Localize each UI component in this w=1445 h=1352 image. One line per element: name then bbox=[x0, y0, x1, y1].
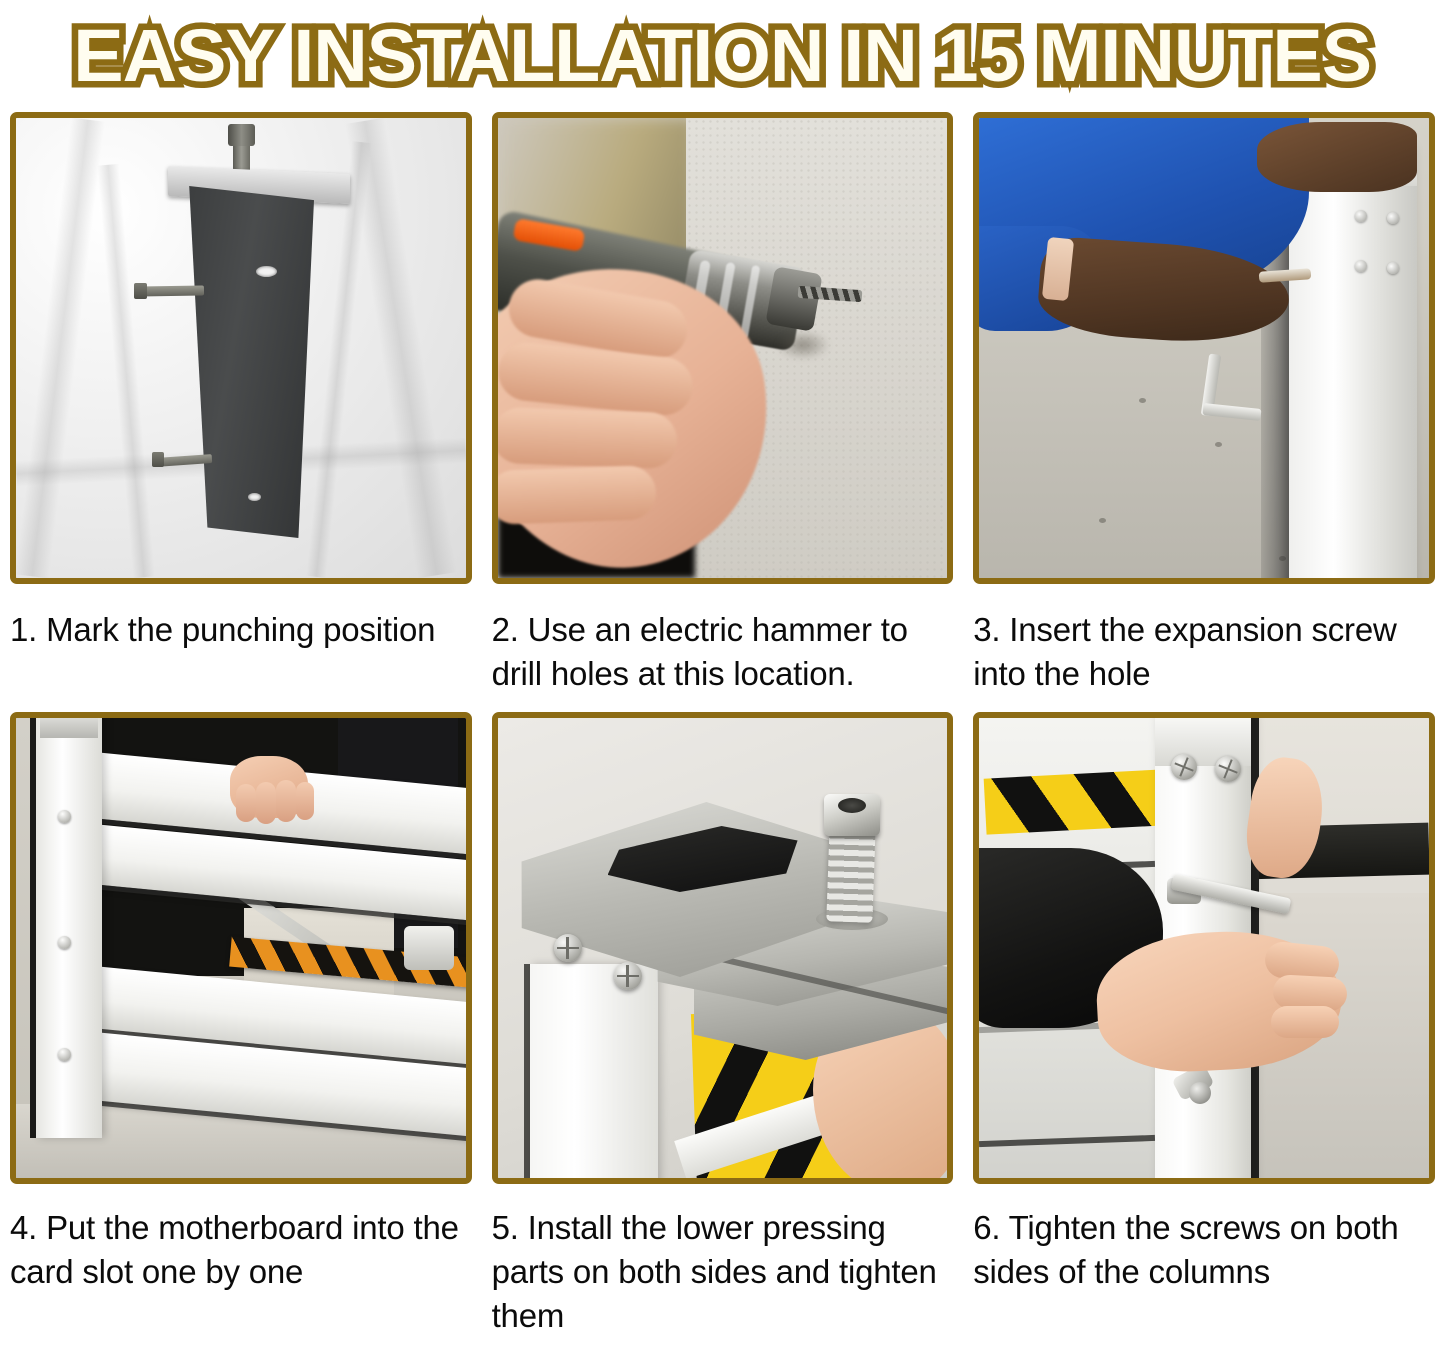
step-photo-frame-5 bbox=[492, 712, 954, 1184]
step-card-2: 2. Use an electric hammer to drill holes… bbox=[482, 112, 964, 712]
steps-row-top: 1. Mark the punching position bbox=[0, 112, 1445, 712]
bracket-hole-upper bbox=[256, 266, 277, 277]
photo-insert-expansion-screw bbox=[979, 118, 1429, 578]
step-card-6: 6. Tighten the screws on both sides of t… bbox=[963, 712, 1445, 1338]
step-card-3: 3. Insert the expansion screw into the h… bbox=[963, 112, 1445, 712]
step-photo-frame-1 bbox=[10, 112, 472, 584]
step-card-4: 4. Put the motherboard into the card slo… bbox=[0, 712, 482, 1338]
step-photo-frame-4 bbox=[10, 712, 472, 1184]
photo-lower-pressing-parts bbox=[498, 718, 948, 1178]
white-column bbox=[1289, 146, 1417, 578]
hex-bolt-thread bbox=[826, 823, 875, 923]
photo-insert-boards-card-slot bbox=[16, 718, 466, 1178]
steps-grid: 1. Mark the punching position bbox=[0, 112, 1445, 1338]
step-caption-2: 2. Use an electric hammer to drill holes… bbox=[492, 608, 954, 704]
photo-drill-holes bbox=[498, 118, 948, 578]
photo-mark-punching-position bbox=[16, 118, 466, 578]
step-photo-frame-6 bbox=[973, 712, 1435, 1184]
phillips-screw-icon bbox=[614, 962, 642, 990]
photo-tighten-screws bbox=[979, 718, 1429, 1178]
phillips-screw-icon bbox=[1171, 754, 1197, 780]
step-caption-3: 3. Insert the expansion screw into the h… bbox=[973, 608, 1435, 704]
phillips-screw-icon bbox=[554, 934, 582, 962]
installation-infographic: EASY INSTALLATION IN 15 MINUTES bbox=[0, 0, 1445, 1352]
step-card-1: 1. Mark the punching position bbox=[0, 112, 482, 712]
hazard-stripe-tape bbox=[984, 769, 1167, 834]
phillips-screw-icon bbox=[1215, 756, 1241, 782]
step-card-5: 5. Install the lower pressing parts on b… bbox=[482, 712, 964, 1338]
step-caption-6: 6. Tighten the screws on both sides of t… bbox=[973, 1206, 1435, 1302]
column-card-slot bbox=[36, 718, 102, 1138]
step-caption-5: 5. Install the lower pressing parts on b… bbox=[492, 1206, 954, 1338]
drill-dust bbox=[776, 330, 830, 360]
top-nut-icon bbox=[228, 124, 255, 146]
bracket-hole-lower bbox=[248, 493, 261, 501]
step-caption-4: 4. Put the motherboard into the card slo… bbox=[10, 1206, 472, 1302]
steps-row-bottom: 4. Put the motherboard into the card slo… bbox=[0, 712, 1445, 1338]
expansion-screw-upper bbox=[138, 285, 204, 296]
white-column bbox=[530, 964, 658, 1178]
page-title: EASY INSTALLATION IN 15 MINUTES bbox=[74, 19, 1372, 93]
step-photo-frame-3 bbox=[973, 112, 1435, 584]
step-photo-frame-2 bbox=[492, 112, 954, 584]
tapered-bracket bbox=[184, 186, 314, 538]
title-banner: EASY INSTALLATION IN 15 MINUTES bbox=[0, 0, 1445, 112]
step-caption-1: 1. Mark the punching position bbox=[10, 608, 472, 704]
